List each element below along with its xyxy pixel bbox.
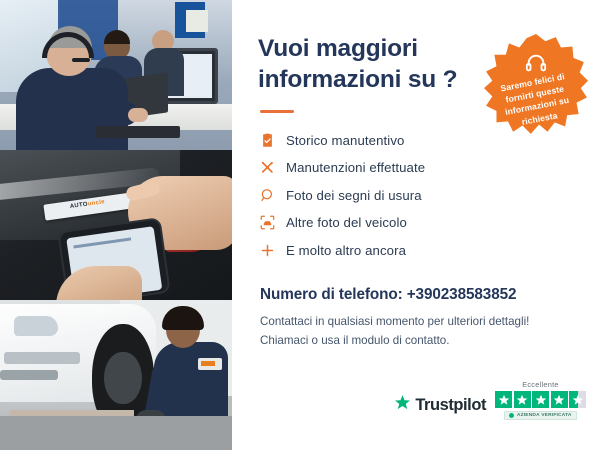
feature-label: Manutenzioni effettuate [286, 160, 425, 175]
content-panel: Vuoi maggiori informazioni su ? Saremo f… [232, 0, 600, 450]
trustpilot-rating[interactable]: Trustpilot Eccellente AZIENDA VERIFICATA [394, 380, 586, 420]
feature-label: Storico manutentivo [286, 133, 404, 148]
clipboard-check-icon [260, 133, 286, 148]
vehicle-inspection-tool-photo: AUTOuncle [0, 150, 232, 300]
promo-banner: AUTOuncle Vuoi maggiori informazioni su … [0, 0, 600, 450]
feature-item-maintenance-done: Manutenzioni effettuate [260, 154, 578, 182]
star-3 [532, 391, 549, 408]
magnifier-icon [260, 188, 286, 203]
trustpilot-wordmark: Trustpilot [415, 396, 486, 415]
feature-label: Foto dei segni di usura [286, 188, 422, 203]
feature-item-wear-photos: Foto dei segni di usura [260, 182, 578, 210]
star-5-half [569, 391, 586, 408]
page-title: Vuoi maggiori informazioni su ? [258, 34, 473, 96]
contact-instructions: Contattaci in qualsiasi momento per ulte… [260, 313, 578, 351]
phone-number[interactable]: Numero di telefono: +390238583852 [260, 286, 578, 304]
star-1 [495, 391, 512, 408]
feature-label: Altre foto del veicolo [286, 215, 407, 230]
car-frame-icon [260, 215, 286, 230]
support-badge: Saremo felici di fornirti queste informa… [484, 34, 588, 138]
contact-line-1: Contattaci in qualsiasi momento per ulte… [260, 313, 578, 332]
trustpilot-logo: Trustpilot [394, 394, 486, 420]
verified-check-icon [509, 413, 514, 418]
verified-label: AZIENDA VERIFICATA [517, 413, 572, 418]
trustpilot-star-icon [394, 394, 411, 416]
rating-label: Eccellente [522, 380, 559, 389]
mechanic-tire-check-photo [0, 300, 232, 450]
star-4 [551, 391, 568, 408]
accent-divider [260, 110, 294, 113]
star-rating [495, 391, 586, 408]
call-center-agents-photo [0, 0, 232, 150]
feature-item-and-more: E molto altro ancora [260, 237, 578, 265]
plus-icon [260, 243, 286, 258]
feature-list: Storico manutentivo Manutenzioni effettu… [260, 127, 578, 265]
trustpilot-score: Eccellente AZIENDA VERIFICATA [495, 380, 586, 420]
contact-line-2: Chiamaci o usa il modulo di contatto. [260, 332, 578, 351]
feature-item-more-photos: Altre foto del veicolo [260, 209, 578, 237]
crossed-tools-icon [260, 160, 286, 175]
feature-label: E molto altro ancora [286, 243, 406, 258]
verified-business-badge: AZIENDA VERIFICATA [504, 411, 576, 420]
star-2 [514, 391, 531, 408]
photo-column: AUTOuncle [0, 0, 232, 450]
